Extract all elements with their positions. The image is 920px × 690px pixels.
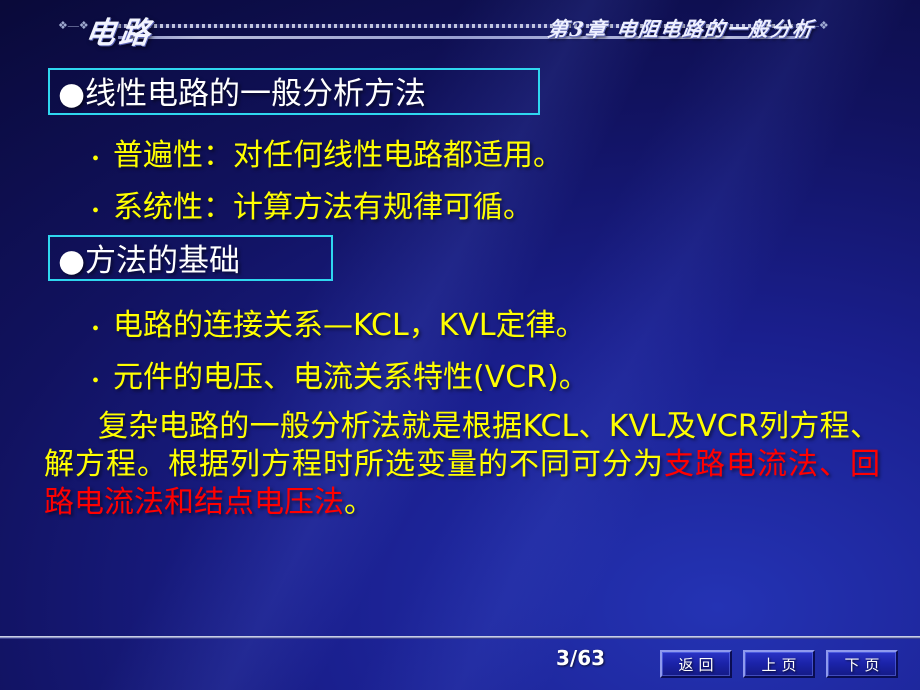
heading-box-method-basis: ●方法的基础 [48,235,333,281]
body-paragraph: 复杂电路的一般分析法就是根据KCL、KVL及VCR列方程、解方程。根据列方程时所… [44,408,880,522]
course-title: 电路 [83,8,157,52]
list-item-label: 系统性：计算方法有规律可循。 [113,182,533,226]
bullet-marker-icon: • [92,149,99,169]
list-item: • 普遍性：对任何线性电路都适用。 [92,130,563,174]
next-page-button[interactable]: 下页 [826,650,898,678]
bullet-marker-icon: • [92,319,99,339]
return-button[interactable]: 返回 [660,650,732,678]
paragraph-part-3: 。 [344,485,374,520]
heading-box-1-label: ●线性电路的一般分析方法 [50,68,434,115]
previous-page-button-label: 上页 [756,654,801,675]
list-item-label: 元件的电压、电流关系特性(VCR)。 [113,352,589,396]
chapter-title: 第3章 电阻电路的一般分析 [546,13,817,42]
list-item: • 元件的电压、电流关系特性(VCR)。 [92,352,589,396]
bullet-marker-icon: • [92,371,99,391]
slide-header: ❖—❖ ❖—❖ 电路 第3章 电阻电路的一般分析 [0,0,920,52]
list-item: • 电路的连接关系—KCL，KVL定律。 [92,300,586,344]
bullet-marker-icon: • [92,201,99,221]
return-button-label: 返回 [673,654,718,675]
footer-divider [0,636,920,639]
next-page-button-label: 下页 [839,654,884,675]
list-item-label: 普遍性：对任何线性电路都适用。 [113,130,563,174]
slide-canvas: ❖—❖ ❖—❖ 电路 第3章 电阻电路的一般分析 ●线性电路的一般分析方法 • … [0,0,920,690]
list-item: • 系统性：计算方法有规律可循。 [92,182,533,226]
page-indicator: 3/63 [556,646,605,670]
heading-box-analysis-methods: ●线性电路的一般分析方法 [48,68,540,115]
heading-box-2-label: ●方法的基础 [50,235,248,282]
list-item-label: 电路的连接关系—KCL，KVL定律。 [113,300,586,344]
navigation-bar: 返回 上页 下页 [660,650,898,678]
previous-page-button[interactable]: 上页 [743,650,815,678]
